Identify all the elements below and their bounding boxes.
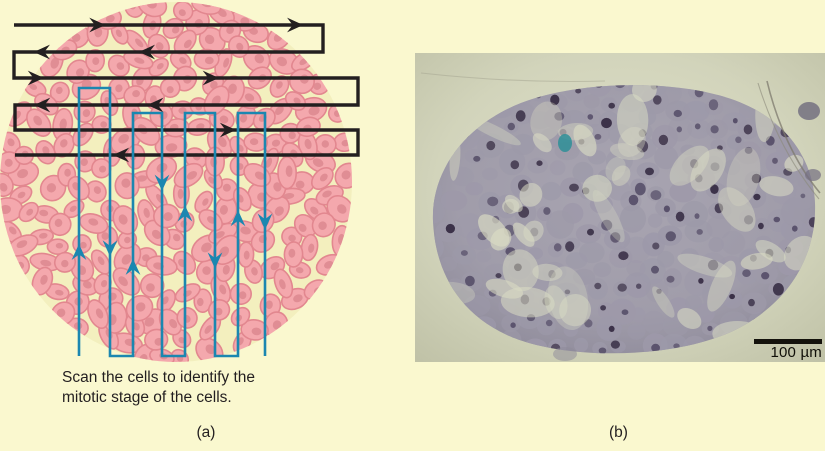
tissue-nucleus: [465, 276, 475, 286]
panel-a: Scan the cells to identify the mitotic s…: [0, 0, 412, 451]
tissue-nucleus: [543, 207, 550, 215]
tissue-nucleus: [729, 294, 735, 299]
tissue-nucleus: [635, 183, 646, 196]
tissue-cell: [643, 311, 665, 334]
tissue-nucleus: [758, 223, 764, 229]
tissue-cell: [527, 158, 548, 174]
tissue-nucleus: [659, 135, 668, 145]
tissue-nucleus: [744, 125, 753, 135]
tissue-nucleus: [773, 283, 784, 296]
histology-micrograph: 100 µm: [415, 53, 825, 362]
figure-container: Scan the cells to identify the mitotic s…: [0, 0, 825, 451]
tissue-nucleus: [611, 341, 620, 349]
tissue-nucleus: [801, 194, 806, 199]
tissue-nucleus: [588, 114, 594, 120]
tissue-cell: [482, 168, 498, 181]
tissue-nucleus: [667, 276, 675, 283]
tissue-nucleus: [761, 272, 769, 279]
tissue-nucleus: [748, 299, 755, 306]
tissue-nucleus: [546, 320, 553, 326]
tissue-cell: [709, 237, 724, 252]
tissue-nucleus: [753, 194, 760, 200]
tissue-cell: [574, 338, 588, 352]
tissue-cell: [465, 149, 485, 163]
tissue-nucleus: [565, 241, 574, 251]
tissue-cell: [546, 210, 574, 238]
tissue-nucleus: [600, 305, 606, 310]
tissue-cell: [541, 182, 562, 201]
tissue-nucleus: [487, 197, 498, 207]
caption-line-2: mitotic stage of the cells.: [62, 388, 362, 408]
tissue-cell: [477, 250, 491, 262]
tissue-nucleus: [709, 99, 718, 110]
vertical-scan-line: [79, 88, 265, 356]
panel-b: 100 µm (b): [412, 0, 825, 451]
tissue-nucleus: [569, 184, 579, 192]
tissue-cell: [550, 160, 566, 175]
tissue-nucleus: [473, 156, 480, 162]
tissue-nucleus: [664, 206, 670, 213]
tissue-nucleus: [508, 123, 515, 131]
tissue-cell: [683, 101, 709, 122]
scale-bar-label: 100 µm: [754, 345, 822, 360]
tissue-nucleus: [772, 158, 778, 164]
tissue-nucleus: [666, 231, 676, 241]
scan-path-overlay: [0, 0, 412, 372]
debris-particle: [805, 169, 821, 181]
tissue-cell: [627, 323, 645, 340]
tissue-nucleus: [536, 160, 542, 166]
tissue-nucleus: [735, 137, 741, 144]
tissue-cell: [781, 198, 809, 227]
tissue-nucleus: [554, 243, 562, 251]
tissue-nucleus: [496, 273, 502, 278]
tissue-nucleus: [608, 103, 615, 109]
tissue-cell: [593, 262, 611, 277]
tissue-nucleus: [652, 243, 659, 250]
tissue-cell: [657, 251, 674, 268]
tissue-nucleus: [651, 190, 662, 200]
micrograph-svg: [415, 53, 825, 362]
tissue-nucleus: [774, 217, 781, 223]
tissue-nucleus: [674, 110, 682, 117]
tissue-nucleus: [516, 110, 526, 121]
tissue-nucleus: [733, 118, 738, 123]
tissue-nucleus: [622, 309, 629, 315]
tissue-nucleus: [695, 213, 700, 219]
tissue-nucleus: [695, 123, 701, 129]
stained-cell: [558, 134, 572, 152]
tissue-nucleus: [742, 269, 751, 277]
tissue-nucleus: [697, 229, 703, 235]
tissue-nucleus: [677, 126, 682, 132]
cell-cluster-illustration: [0, 0, 412, 372]
vertical-serpentine-scan-path: [72, 88, 273, 356]
tissue-cell: [465, 182, 483, 195]
tissue-nucleus: [792, 226, 798, 232]
tissue-nucleus: [636, 284, 641, 289]
caption-line-1: Scan the cells to identify the: [62, 368, 362, 388]
tissue-nucleus: [645, 168, 654, 176]
panel-a-label: (a): [0, 424, 412, 442]
tissue-cell: [566, 252, 588, 268]
tissue-nucleus: [461, 250, 468, 256]
tissue-cell: [648, 214, 662, 228]
tissue-nucleus: [510, 322, 515, 328]
tissue-nucleus: [599, 348, 607, 354]
tissue-nucleus: [511, 160, 520, 169]
tissue-nucleus: [486, 141, 495, 150]
tissue-nucleus: [446, 224, 455, 233]
tissue-nucleus: [711, 125, 719, 133]
tissue-nucleus: [594, 283, 601, 289]
tissue-nucleus: [618, 251, 628, 260]
panel-a-caption: Scan the cells to identify the mitotic s…: [62, 368, 362, 408]
scale-bar: 100 µm: [754, 339, 822, 360]
tissue-nucleus: [707, 326, 712, 331]
tissue-cell: [685, 295, 702, 309]
tissue-cell: [623, 237, 650, 264]
tissue-nucleus: [629, 195, 639, 206]
tissue-nucleus: [698, 278, 703, 284]
tissue-nucleus: [587, 229, 594, 236]
tissue-nucleus: [609, 326, 615, 332]
tissue-nucleus: [601, 118, 612, 128]
panel-b-label: (b): [412, 424, 825, 442]
tissue-nucleus: [651, 266, 659, 274]
tissue-nucleus: [618, 284, 627, 292]
tissue-nucleus: [595, 134, 602, 140]
debris-particle: [553, 347, 577, 361]
tissue-nucleus: [575, 89, 581, 94]
tissue-nucleus: [676, 212, 685, 222]
debris-particle: [798, 102, 820, 120]
